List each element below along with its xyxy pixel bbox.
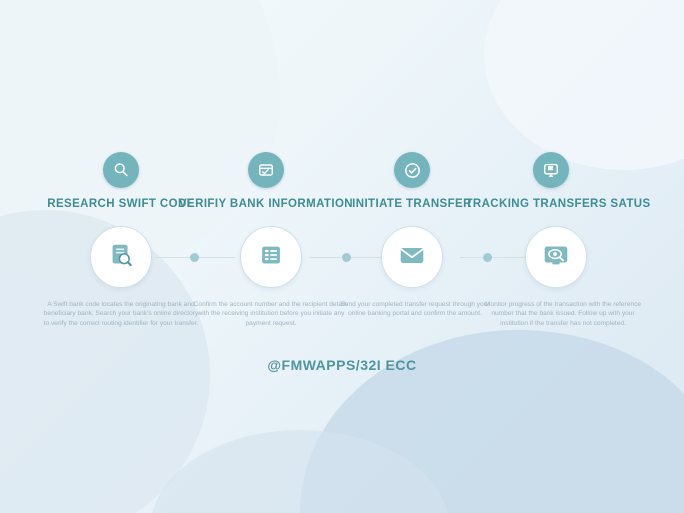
step-description-1: A Swift bank code locates the originatin…	[41, 300, 201, 328]
connector-marker-3	[483, 253, 492, 262]
monitor-search-icon	[540, 239, 572, 276]
step-description-3: Send your completed transfer request thr…	[335, 300, 495, 319]
step-node-1	[90, 226, 152, 288]
diagram-caption: @FMWAPPS/32I ECC	[0, 357, 684, 373]
check-circle-icon	[394, 152, 430, 188]
document-search-icon	[106, 240, 136, 275]
infographic-canvas: RESEARCH SWIFT CODE A Swift bank code lo…	[0, 0, 684, 513]
step-description-4: Monitor progress of the transaction with…	[483, 300, 643, 328]
step-node-4	[525, 226, 587, 288]
monitor-flag-icon	[533, 152, 569, 188]
list-lines-icon	[256, 240, 286, 275]
step-node-3	[381, 226, 443, 288]
bank-verify-icon	[248, 152, 284, 188]
connector-marker-1	[190, 253, 199, 262]
step-node-2	[240, 226, 302, 288]
magnifier-icon	[103, 152, 139, 188]
connector-marker-2	[342, 253, 351, 262]
step-description-2: Confirm the account number and the recip…	[191, 300, 351, 328]
process-flow: RESEARCH SWIFT CODE A Swift bank code lo…	[0, 0, 684, 513]
envelope-icon	[396, 239, 428, 276]
step-title-4: TRACKING TRANSFERS SATUS	[463, 197, 653, 211]
